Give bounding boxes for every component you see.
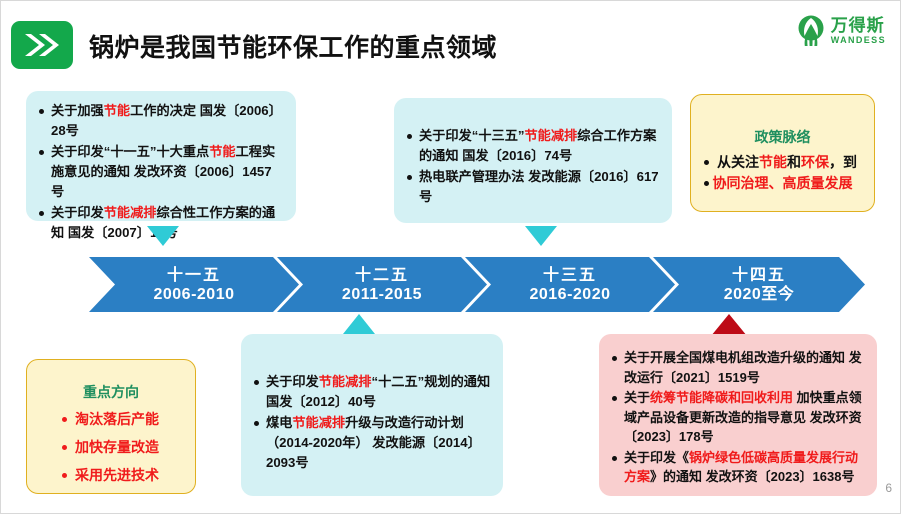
timeline-step-3[interactable]: 十三五 2016-2020 (465, 257, 675, 312)
policy-list-item: 关于印发《锅炉绿色低碳高质量发展行动方案》的通知 发改环资〔2023〕1638号 (611, 448, 865, 487)
key-direction-item: 采用先进技术 (61, 465, 183, 486)
policy-list: 关于加强节能工作的决定 国发〔2006〕28号关于印发“十一五”十大重点节能工程… (38, 101, 284, 243)
policy-list-item: 关于印发“十三五”节能减排综合工作方案的通知 国发〔2016〕74号 (406, 126, 660, 166)
card-key-directions: 重点方向 淘汰落后产能加快存量改造采用先进技术 (26, 359, 196, 494)
plain-text: 关于印发“十一五”十大重点 (51, 144, 209, 159)
policy-point-line2: 协同治理、高质量发展 (703, 173, 862, 194)
timeline-step-range: 2020至今 (724, 285, 795, 304)
highlight-text: 节能减排 (104, 205, 157, 220)
policy-list: 关于开展全国煤电机组改造升级的通知 发改运行〔2021〕1519号关于统筹节能降… (611, 344, 865, 487)
timeline-step-name: 十四五 (732, 266, 786, 285)
policy-list: 关于印发节能减排“十二五”规划的通知 国发〔2012〕40号煤电节能减排升级与改… (253, 344, 491, 473)
policy-list-item: 关于印发节能减排“十二五”规划的通知 国发〔2012〕40号 (253, 372, 491, 412)
highlight-text: 节能减排 (525, 128, 578, 143)
highlight-text: 节能减排 (319, 374, 372, 389)
timeline-step-name: 十一五 (167, 266, 221, 285)
highlight-text: 节能 (759, 154, 787, 170)
highlight-text: 节能减排 (292, 415, 345, 430)
plain-text: 关于开展全国煤电机组改造升级的通知 发改运行〔2021〕1519号 (624, 350, 862, 385)
plain-text: 热电联产管理办法 发改能源〔2016〕617号 (419, 169, 659, 204)
plain-text: 关于印发 (266, 374, 319, 389)
timeline-step-range: 2006-2010 (153, 285, 234, 304)
policy-list-item: 煤电节能减排升级与改造行动计划（2014-2020年） 发改能源〔2014〕20… (253, 413, 491, 473)
double-chevron-icon (11, 21, 73, 69)
plain-text: 关于印发 (51, 205, 104, 220)
policy-list: 关于印发“十三五”节能减排综合工作方案的通知 国发〔2016〕74号热电联产管理… (406, 108, 660, 207)
key-direction-item: 淘汰落后产能 (61, 409, 183, 430)
connector-arrow-up-4 (711, 314, 747, 336)
plain-text: 从关注 (717, 154, 759, 170)
slide-canvas: 锅炉是我国节能环保工作的重点领域 万得斯 WANDESS 关于加强节能工作的决定… (0, 0, 901, 514)
key-direction-list: 淘汰落后产能加快存量改造采用先进技术 (39, 409, 183, 486)
page-number: 6 (885, 481, 892, 495)
policy-list-item: 关于印发“十一五”十大重点节能工程实施意见的通知 发改环资〔2006〕1457号 (38, 142, 284, 202)
logo-text-cn: 万得斯 (831, 17, 886, 34)
page-title: 锅炉是我国节能环保工作的重点领域 (89, 28, 497, 64)
plain-text: 关于印发《 (624, 450, 689, 465)
policy-point: 从关注节能和环保，到 (703, 152, 862, 173)
plain-text: 煤电 (266, 415, 292, 430)
brand-logo: 万得斯 WANDESS (796, 15, 886, 47)
policy-list-item: 关于开展全国煤电机组改造升级的通知 发改运行〔2021〕1519号 (611, 348, 865, 387)
timeline-step-range: 2011-2015 (342, 285, 422, 304)
plain-text: ，到 (829, 154, 857, 170)
policy-list-item: 热电联产管理办法 发改能源〔2016〕617号 (406, 167, 660, 207)
timeline-step-4[interactable]: 十四五 2020至今 (653, 257, 865, 312)
card-top-left: 关于加强节能工作的决定 国发〔2006〕28号关于印发“十一五”十大重点节能工程… (26, 91, 296, 221)
highlight-text: 节能 (104, 103, 130, 118)
connector-arrow-up-2 (343, 314, 375, 334)
policy-list-item: 关于统筹节能降碳和回收利用 加快重点领域产品设备更新改造的指导意见 发改环资〔2… (611, 388, 865, 447)
card-top-mid: 关于印发“十三五”节能减排综合工作方案的通知 国发〔2016〕74号热电联产管理… (394, 98, 672, 223)
plain-text: 关于加强 (51, 103, 104, 118)
plain-text: 关于印发“十三五” (419, 128, 525, 143)
card-bottom-right: 关于开展全国煤电机组改造升级的通知 发改运行〔2021〕1519号关于统筹节能降… (599, 334, 877, 496)
key-direction-item: 加快存量改造 (61, 437, 183, 458)
highlight-text: 环保 (801, 154, 829, 170)
plain-text: 关于 (624, 390, 650, 405)
plain-text: 》的通知 发改环资〔2023〕1638号 (650, 469, 854, 484)
timeline-step-2[interactable]: 十二五 2011-2015 (277, 257, 487, 312)
card-bottom-mid: 关于印发节能减排“十二五”规划的通知 国发〔2012〕40号煤电节能减排升级与改… (241, 334, 503, 496)
card-title: 政策脉络 (703, 127, 862, 147)
timeline-step-name: 十三五 (543, 266, 597, 285)
logo-text-en: WANDESS (831, 36, 886, 45)
highlight-text: 统筹节能降碳和回收利用 (650, 390, 793, 405)
highlight-text: 协同治理、高质量发展 (713, 175, 853, 191)
card-title: 重点方向 (39, 382, 183, 402)
policy-list-item: 关于加强节能工作的决定 国发〔2006〕28号 (38, 101, 284, 141)
plain-text: 和 (787, 154, 801, 170)
connector-arrow-down-3 (525, 226, 557, 246)
card-policy-context: 政策脉络 从关注节能和环保，到 协同治理、高质量发展 (690, 94, 875, 212)
timeline-step-range: 2016-2020 (529, 285, 610, 304)
timeline-step-name: 十二五 (355, 266, 409, 285)
leaf-logo-icon (796, 15, 826, 47)
highlight-text: 节能 (209, 144, 235, 159)
timeline-step-1[interactable]: 十一五 2006-2010 (89, 257, 299, 312)
connector-arrow-down-1 (147, 226, 179, 246)
